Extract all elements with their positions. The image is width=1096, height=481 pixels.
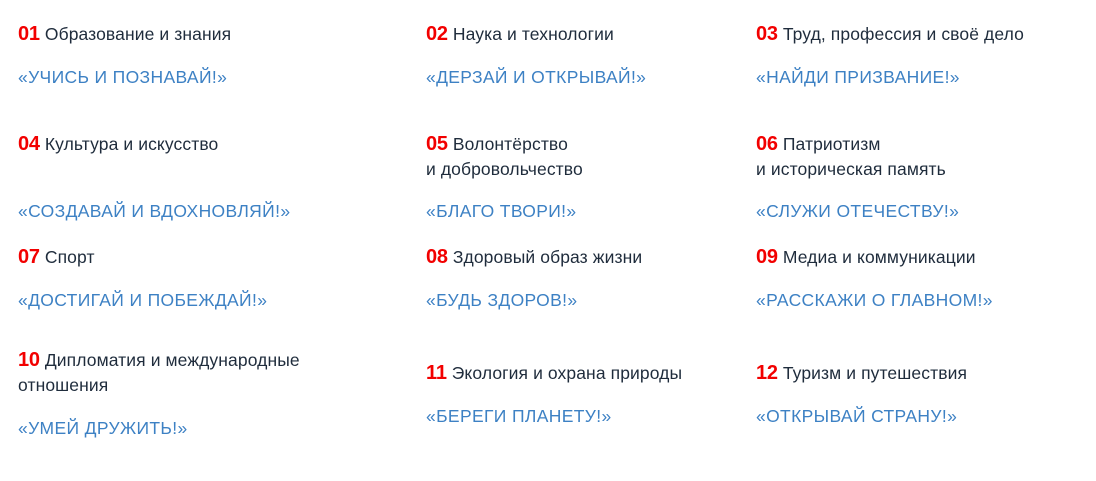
direction-slogan: «НАЙДИ ПРИЗВАНИЕ!» bbox=[756, 65, 1096, 89]
direction-slogan: «УМЕЙ ДРУЖИТЬ!» bbox=[18, 416, 422, 440]
direction-title: 09Медиа и коммуникации bbox=[756, 245, 1096, 270]
direction-slogan: «ОТКРЫВАЙ СТРАНУ!» bbox=[756, 404, 1096, 428]
direction-number: 02 bbox=[426, 23, 448, 45]
directions-row: 01Образование и знания «УЧИСЬ И ПОЗНАВАЙ… bbox=[0, 22, 1096, 132]
direction-title: 10Дипломатия и международные отношения bbox=[18, 348, 422, 398]
direction-card-01[interactable]: 01Образование и знания «УЧИСЬ И ПОЗНАВАЙ… bbox=[0, 22, 422, 89]
direction-title-text: Образование и знания bbox=[45, 24, 231, 44]
direction-card-02[interactable]: 02Наука и технологии «ДЕРЗАЙ И ОТКРЫВАЙ!… bbox=[422, 22, 752, 89]
directions-grid: 01Образование и знания «УЧИСЬ И ПОЗНАВАЙ… bbox=[0, 0, 1096, 481]
direction-title: 03Труд, профессия и своё дело bbox=[756, 22, 1096, 47]
direction-card-12[interactable]: 12Туризм и путешествия «ОТКРЫВАЙ СТРАНУ!… bbox=[752, 348, 1096, 428]
direction-number: 06 bbox=[756, 133, 778, 155]
direction-title: 07Спорт bbox=[18, 245, 422, 270]
direction-number: 01 bbox=[18, 23, 40, 45]
direction-card-09[interactable]: 09Медиа и коммуникации «РАССКАЖИ О ГЛАВН… bbox=[752, 245, 1096, 312]
direction-title-text: Спорт bbox=[45, 247, 95, 267]
direction-title-text: Культура и искусство bbox=[45, 134, 219, 154]
direction-card-03[interactable]: 03Труд, профессия и своё дело «НАЙДИ ПРИ… bbox=[752, 22, 1096, 89]
direction-slogan: «ДЕРЗАЙ И ОТКРЫВАЙ!» bbox=[426, 65, 752, 89]
direction-title: 04Культура и искусство bbox=[18, 132, 422, 157]
direction-number: 11 bbox=[426, 362, 447, 384]
direction-card-11[interactable]: 11Экология и охрана природы «БЕРЕГИ ПЛАН… bbox=[422, 348, 752, 428]
directions-row: 10Дипломатия и международные отношения «… bbox=[0, 348, 1096, 458]
direction-slogan: «ДОСТИГАЙ И ПОБЕЖДАЙ!» bbox=[18, 288, 422, 312]
direction-slogan: «РАССКАЖИ О ГЛАВНОМ!» bbox=[756, 288, 1096, 312]
direction-title-text: Дипломатия и международные отношения bbox=[18, 350, 300, 395]
direction-slogan: «УЧИСЬ И ПОЗНАВАЙ!» bbox=[18, 65, 422, 89]
direction-title: 06Патриотизм и историческая память bbox=[756, 132, 1096, 182]
direction-slogan: «БЛАГО ТВОРИ!» bbox=[426, 199, 752, 223]
direction-title-text: Наука и технологии bbox=[453, 24, 614, 44]
direction-number: 04 bbox=[18, 133, 40, 155]
direction-card-06[interactable]: 06Патриотизм и историческая память «СЛУЖ… bbox=[752, 132, 1096, 223]
direction-slogan: «СЛУЖИ ОТЕЧЕСТВУ!» bbox=[756, 199, 1096, 223]
direction-slogan: «БУДЬ ЗДОРОВ!» bbox=[426, 288, 752, 312]
direction-title-text: Туризм и путешествия bbox=[783, 363, 967, 383]
direction-title: 11Экология и охрана природы bbox=[426, 361, 752, 386]
direction-number: 12 bbox=[756, 362, 778, 384]
direction-title: 05Волонтёрство и добровольчество bbox=[426, 132, 752, 182]
directions-row: 07Спорт «ДОСТИГАЙ И ПОБЕЖДАЙ!» 08Здоровы… bbox=[0, 245, 1096, 348]
direction-title-text: Экология и охрана природы bbox=[452, 363, 682, 383]
direction-title: 08Здоровый образ жизни bbox=[426, 245, 752, 270]
direction-slogan: «СОЗДАВАЙ И ВДОХНОВЛЯЙ!» bbox=[18, 199, 422, 223]
direction-card-08[interactable]: 08Здоровый образ жизни «БУДЬ ЗДОРОВ!» bbox=[422, 245, 752, 312]
direction-number: 05 bbox=[426, 133, 448, 155]
direction-number: 03 bbox=[756, 23, 778, 45]
direction-title-text: Труд, профессия и своё дело bbox=[783, 24, 1024, 44]
direction-card-07[interactable]: 07Спорт «ДОСТИГАЙ И ПОБЕЖДАЙ!» bbox=[0, 245, 422, 312]
direction-number: 07 bbox=[18, 246, 40, 268]
direction-title-text: Патриотизм и историческая память bbox=[756, 134, 946, 179]
direction-title: 12Туризм и путешествия bbox=[756, 361, 1096, 386]
direction-title-text: Здоровый образ жизни bbox=[453, 247, 642, 267]
direction-title-text: Волонтёрство и добровольчество bbox=[426, 134, 583, 179]
direction-title-text: Медиа и коммуникации bbox=[783, 247, 976, 267]
direction-number: 10 bbox=[18, 349, 40, 371]
direction-title: 01Образование и знания bbox=[18, 22, 422, 47]
direction-card-05[interactable]: 05Волонтёрство и добровольчество «БЛАГО … bbox=[422, 132, 752, 223]
direction-card-04[interactable]: 04Культура и искусство «СОЗДАВАЙ И ВДОХН… bbox=[0, 132, 422, 223]
direction-number: 09 bbox=[756, 246, 778, 268]
direction-card-10[interactable]: 10Дипломатия и международные отношения «… bbox=[0, 348, 422, 440]
direction-title: 02Наука и технологии bbox=[426, 22, 752, 47]
direction-number: 08 bbox=[426, 246, 448, 268]
direction-slogan: «БЕРЕГИ ПЛАНЕТУ!» bbox=[426, 404, 752, 428]
directions-row: 04Культура и искусство «СОЗДАВАЙ И ВДОХН… bbox=[0, 132, 1096, 245]
